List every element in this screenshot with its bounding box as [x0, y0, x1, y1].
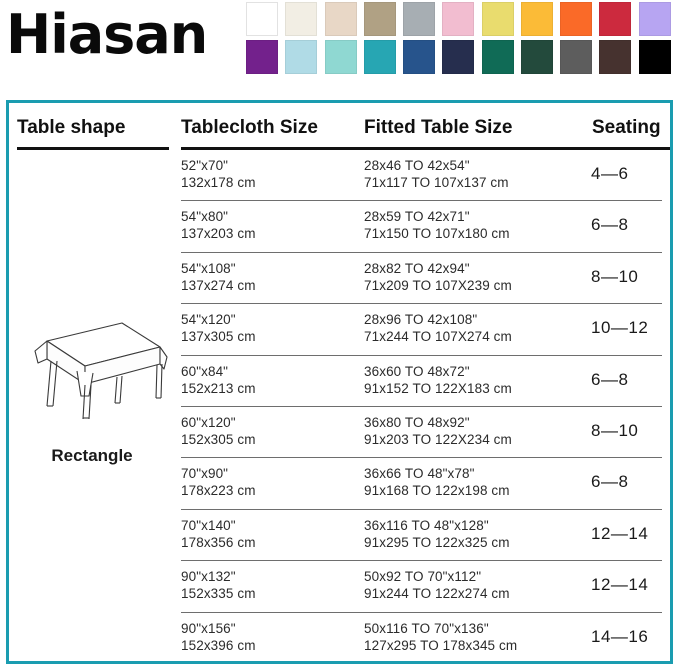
color-swatch-row-2: [246, 40, 678, 78]
table-row: 54"x80"137x203 cm28x59 TO 42x71"71x150 T…: [181, 201, 662, 252]
cell-tablecloth-size: 90"x132"152x335 cm: [181, 568, 256, 602]
fitted-size-inches: 36x66 TO 48"x78": [364, 465, 510, 482]
tablecloth-size-inches: 90"x132": [181, 568, 256, 585]
color-swatch-golden-yellow[interactable]: [521, 2, 553, 36]
color-swatch-aqua[interactable]: [325, 40, 357, 74]
color-swatch-teal[interactable]: [364, 40, 396, 74]
column-header-seating: Seating: [592, 117, 661, 139]
fitted-size-inches: 28x46 TO 42x54": [364, 157, 509, 174]
fitted-size-inches: 36x80 TO 48x92": [364, 414, 512, 431]
table-row: 60"x84"152x213 cm36x60 TO 48x72"91x152 T…: [181, 356, 662, 407]
color-swatch-denim-blue[interactable]: [403, 40, 435, 74]
cell-fitted-table-size: 28x96 TO 42x108"71x244 TO 107X274 cm: [364, 311, 512, 345]
brand-logo: Hiasan: [6, 4, 207, 66]
fitted-size-inches: 28x96 TO 42x108": [364, 311, 512, 328]
tablecloth-size-cm: 152x396 cm: [181, 637, 256, 654]
color-swatch-cell[interactable]: [521, 40, 560, 78]
fitted-size-cm: 127x295 TO 178x345 cm: [364, 637, 517, 654]
color-swatch-ivory[interactable]: [285, 2, 317, 36]
cell-fitted-table-size: 28x59 TO 42x71"71x150 TO 107x180 cm: [364, 208, 510, 242]
color-swatch-cell[interactable]: [246, 40, 285, 78]
size-chart-card: Table shape Tablecloth Size Fitted Table…: [6, 100, 673, 664]
color-swatch-emerald[interactable]: [482, 40, 514, 74]
table-row: 52"x70"132x178 cm28x46 TO 42x54"71x117 T…: [181, 150, 662, 201]
cell-fitted-table-size: 36x80 TO 48x92"91x203 TO 122X234 cm: [364, 414, 512, 448]
fitted-size-cm: 91x244 TO 122x274 cm: [364, 585, 510, 602]
cell-seating: 6—8: [591, 371, 628, 388]
cell-fitted-table-size: 50x116 TO 70"x136"127x295 TO 178x345 cm: [364, 620, 517, 654]
table-header-row: Table shape Tablecloth Size Fitted Table…: [9, 103, 670, 151]
fitted-size-cm: 71x117 TO 107x137 cm: [364, 174, 509, 191]
color-swatch-cell[interactable]: [639, 40, 678, 78]
table-row: 54"x108"137x274 cm28x82 TO 42x94"71x209 …: [181, 253, 662, 304]
tablecloth-size-inches: 60"x84": [181, 363, 256, 380]
fitted-size-cm: 71x150 TO 107x180 cm: [364, 225, 510, 242]
color-swatch-cell[interactable]: [403, 40, 442, 78]
cell-seating: 6—8: [591, 216, 628, 233]
fitted-size-inches: 50x116 TO 70"x136": [364, 620, 517, 637]
column-header-fitted-table-size: Fitted Table Size: [364, 117, 513, 139]
fitted-size-inches: 50x92 TO 70"x112": [364, 568, 510, 585]
fitted-size-cm: 91x168 TO 122x198 cm: [364, 482, 510, 499]
color-swatch-silver-gray[interactable]: [403, 2, 435, 36]
color-swatch-orange[interactable]: [560, 2, 592, 36]
color-swatch-cell[interactable]: [482, 40, 521, 78]
fitted-size-cm: 71x209 TO 107X239 cm: [364, 277, 512, 294]
color-swatch-cell[interactable]: [599, 40, 638, 78]
cell-tablecloth-size: 70"x140"178x356 cm: [181, 517, 256, 551]
tablecloth-size-inches: 52"x70": [181, 157, 256, 174]
tablecloth-size-inches: 90"x156": [181, 620, 256, 637]
cell-fitted-table-size: 28x82 TO 42x94"71x209 TO 107X239 cm: [364, 260, 512, 294]
color-swatch-cell[interactable]: [325, 40, 364, 78]
column-header-table-shape: Table shape: [17, 117, 125, 139]
cell-seating: 4—6: [591, 165, 628, 182]
tablecloth-size-inches: 54"x108": [181, 260, 256, 277]
tablecloth-size-cm: 137x305 cm: [181, 328, 256, 345]
cell-seating: 8—10: [591, 268, 638, 285]
tablecloth-size-cm: 152x213 cm: [181, 380, 256, 397]
table-row: 90"x132"152x335 cm50x92 TO 70"x112"91x24…: [181, 561, 662, 612]
cell-tablecloth-size: 54"x80"137x203 cm: [181, 208, 256, 242]
tablecloth-size-cm: 137x203 cm: [181, 225, 256, 242]
cell-fitted-table-size: 50x92 TO 70"x112"91x244 TO 122x274 cm: [364, 568, 510, 602]
cell-seating: 6—8: [591, 473, 628, 490]
fitted-size-inches: 36x116 TO 48"x128": [364, 517, 510, 534]
color-swatch-purple[interactable]: [246, 40, 278, 74]
color-swatch-cell[interactable]: [364, 2, 403, 40]
color-swatch-white[interactable]: [246, 2, 278, 36]
color-swatch-dark-brown[interactable]: [599, 40, 631, 74]
table-row: 60"x120"152x305 cm36x80 TO 48x92"91x203 …: [181, 407, 662, 458]
color-swatch-row-1: [246, 2, 678, 40]
color-swatch-cell[interactable]: [639, 2, 678, 40]
tablecloth-size-inches: 54"x80": [181, 208, 256, 225]
fitted-size-cm: 91x203 TO 122X234 cm: [364, 431, 512, 448]
table-row: 70"x140"178x356 cm36x116 TO 48"x128"91x2…: [181, 510, 662, 561]
fitted-size-inches: 28x82 TO 42x94": [364, 260, 512, 277]
cell-seating: 14—16: [591, 628, 648, 645]
color-swatch-cell[interactable]: [442, 2, 481, 40]
color-swatch-dark-green[interactable]: [521, 40, 553, 74]
page-header: Hiasan: [0, 0, 679, 96]
cell-fitted-table-size: 28x46 TO 42x54"71x117 TO 107x137 cm: [364, 157, 509, 191]
tablecloth-size-inches: 60"x120": [181, 414, 256, 431]
fitted-size-cm: 71x244 TO 107X274 cm: [364, 328, 512, 345]
table-row: 54"x120"137x305 cm28x96 TO 42x108"71x244…: [181, 304, 662, 355]
cell-tablecloth-size: 52"x70"132x178 cm: [181, 157, 256, 191]
fitted-size-cm: 91x295 TO 122x325 cm: [364, 534, 510, 551]
cell-fitted-table-size: 36x66 TO 48"x78"91x168 TO 122x198 cm: [364, 465, 510, 499]
cell-seating: 12—14: [591, 576, 648, 593]
tablecloth-size-cm: 152x305 cm: [181, 431, 256, 448]
color-swatch-grid: [246, 2, 678, 78]
column-header-tablecloth-size: Tablecloth Size: [181, 117, 318, 139]
color-swatch-dark-gray[interactable]: [560, 40, 592, 74]
color-swatch-red[interactable]: [599, 2, 631, 36]
cell-tablecloth-size: 54"x120"137x305 cm: [181, 311, 256, 345]
fitted-size-inches: 36x60 TO 48x72": [364, 363, 512, 380]
cell-fitted-table-size: 36x116 TO 48"x128"91x295 TO 122x325 cm: [364, 517, 510, 551]
color-swatch-beige[interactable]: [325, 2, 357, 36]
cell-tablecloth-size: 54"x108"137x274 cm: [181, 260, 256, 294]
color-swatch-cell[interactable]: [364, 40, 403, 78]
table-body: 52"x70"132x178 cm28x46 TO 42x54"71x117 T…: [9, 150, 670, 663]
cell-tablecloth-size: 90"x156"152x396 cm: [181, 620, 256, 654]
cell-seating: 8—10: [591, 422, 638, 439]
tablecloth-size-inches: 54"x120": [181, 311, 256, 328]
color-swatch-blush-pink[interactable]: [442, 2, 474, 36]
table-row: 70"x90"178x223 cm36x66 TO 48"x78"91x168 …: [181, 458, 662, 509]
size-chart-table: Table shape Tablecloth Size Fitted Table…: [9, 103, 670, 661]
color-swatch-cell[interactable]: [560, 2, 599, 40]
cell-seating: 10—12: [591, 319, 648, 336]
tablecloth-size-inches: 70"x90": [181, 465, 256, 482]
tablecloth-size-cm: 132x178 cm: [181, 174, 256, 191]
color-swatch-cell[interactable]: [599, 2, 638, 40]
cell-tablecloth-size: 60"x84"152x213 cm: [181, 363, 256, 397]
color-swatch-cell[interactable]: [285, 2, 324, 40]
color-swatch-cell[interactable]: [521, 2, 560, 40]
tablecloth-size-cm: 178x356 cm: [181, 534, 256, 551]
cell-fitted-table-size: 36x60 TO 48x72"91x152 TO 122X183 cm: [364, 363, 512, 397]
color-swatch-cell[interactable]: [246, 2, 285, 40]
fitted-size-cm: 91x152 TO 122X183 cm: [364, 380, 512, 397]
cell-tablecloth-size: 70"x90"178x223 cm: [181, 465, 256, 499]
color-swatch-cell[interactable]: [442, 40, 481, 78]
color-swatch-cell[interactable]: [560, 40, 599, 78]
color-swatch-taupe[interactable]: [364, 2, 396, 36]
tablecloth-size-inches: 70"x140": [181, 517, 256, 534]
color-swatch-cell[interactable]: [482, 2, 521, 40]
color-swatch-cell[interactable]: [325, 2, 364, 40]
color-swatch-pale-yellow[interactable]: [482, 2, 514, 36]
tablecloth-size-cm: 152x335 cm: [181, 585, 256, 602]
color-swatch-navy[interactable]: [442, 40, 474, 74]
color-swatch-light-blue[interactable]: [285, 40, 317, 74]
color-swatch-cell[interactable]: [285, 40, 324, 78]
cell-tablecloth-size: 60"x120"152x305 cm: [181, 414, 256, 448]
tablecloth-size-cm: 178x223 cm: [181, 482, 256, 499]
table-row: 90"x156"152x396 cm50x116 TO 70"x136"127x…: [181, 613, 662, 663]
cell-seating: 12—14: [591, 525, 648, 542]
tablecloth-size-cm: 137x274 cm: [181, 277, 256, 294]
fitted-size-inches: 28x59 TO 42x71": [364, 208, 510, 225]
color-swatch-cell[interactable]: [403, 2, 442, 40]
color-swatch-lavender[interactable]: [639, 2, 671, 36]
color-swatch-black[interactable]: [639, 40, 671, 74]
